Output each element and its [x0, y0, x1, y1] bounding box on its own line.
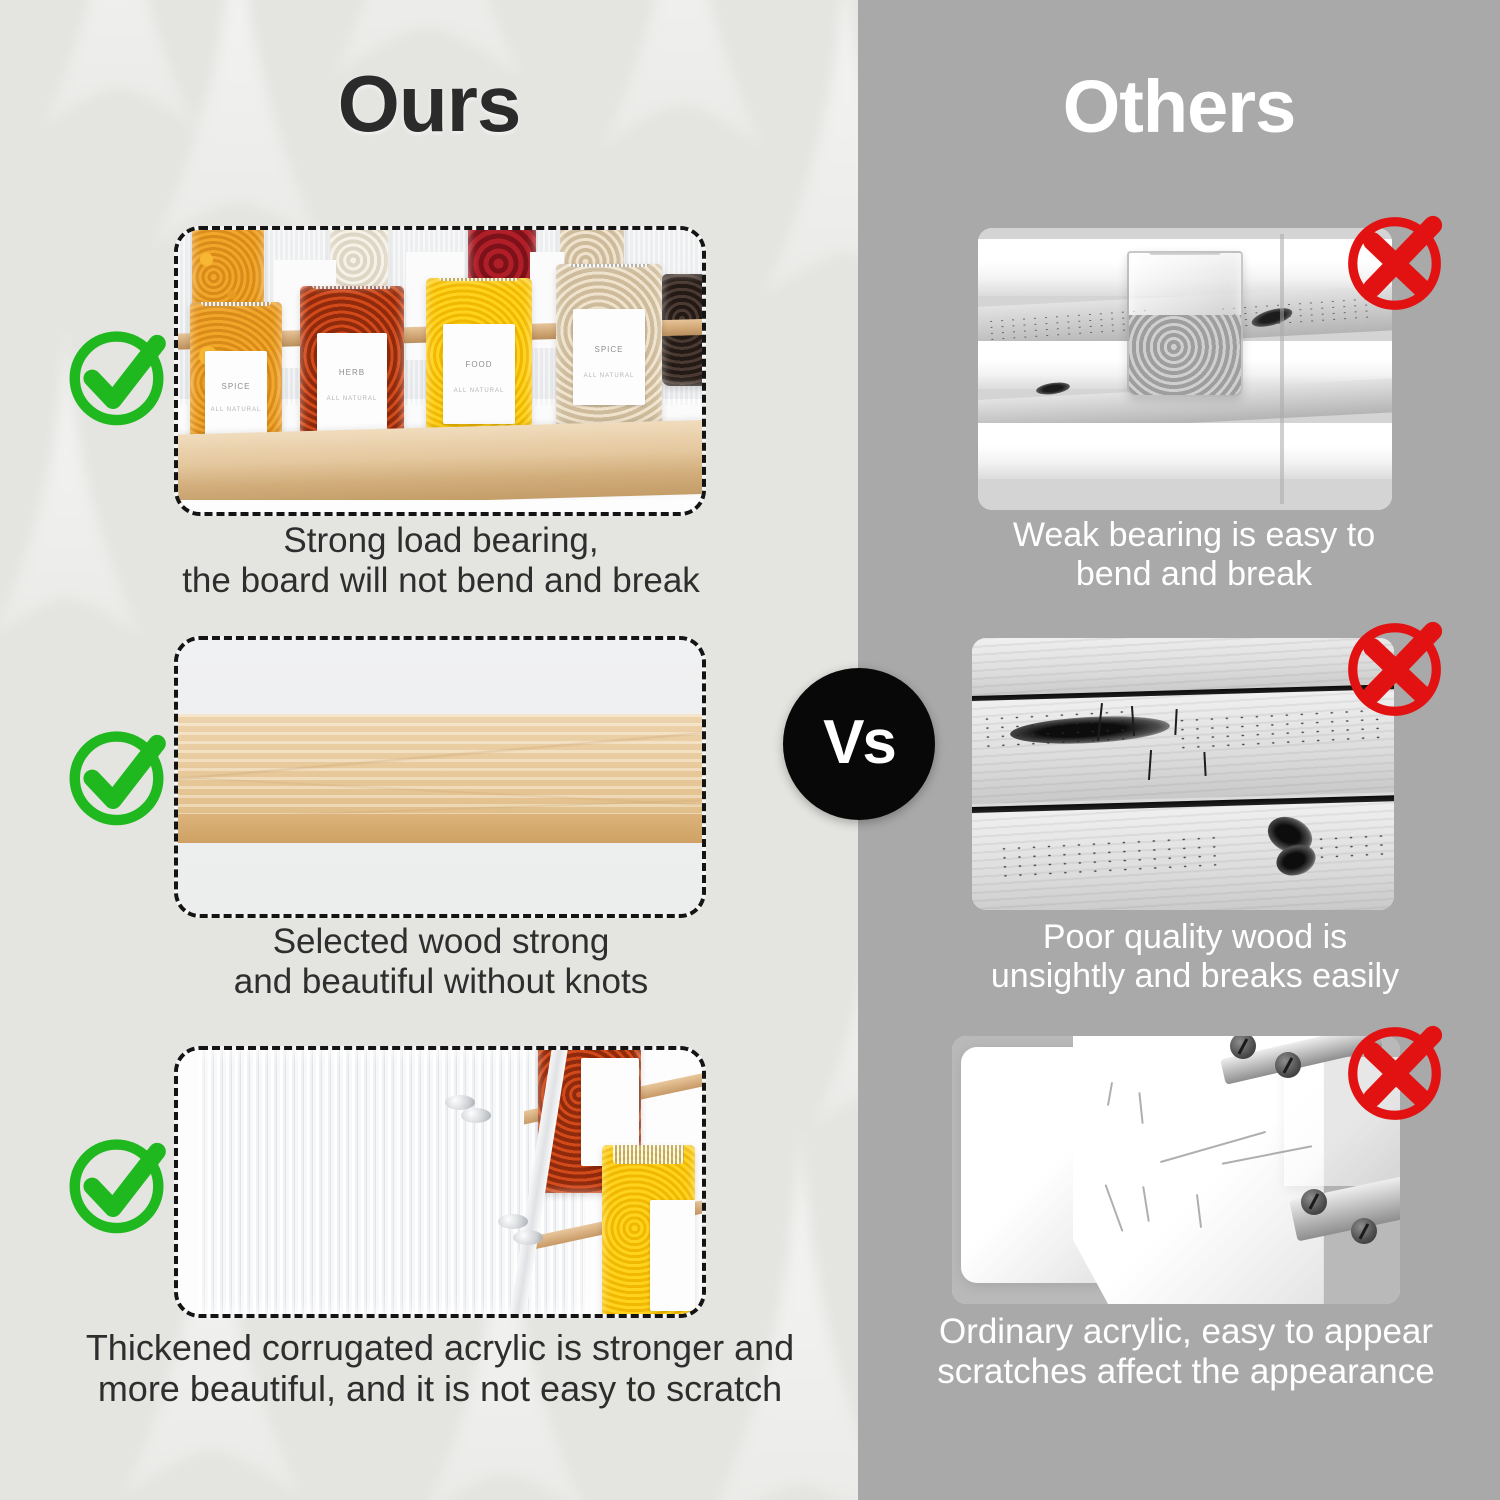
caption-line: unsightly and breaks easily: [952, 957, 1438, 996]
check-circle-icon: [62, 318, 178, 434]
check-circle-icon: [62, 1126, 178, 1242]
others-caption-acrylic-quality: Ordinary acrylic, easy to appear scratch…: [912, 1312, 1460, 1392]
jar-label-name: HERB: [339, 368, 365, 377]
ours-heading: Ours: [0, 58, 858, 150]
caption-line: and beautiful without knots: [176, 962, 706, 1002]
check-circle-icon: [62, 718, 178, 834]
caption-line: Selected wood strong: [176, 922, 706, 962]
jar-label-name: FOOD: [465, 360, 492, 369]
caption-line: Strong load bearing,: [116, 521, 766, 561]
others-image-load-bearing: [978, 228, 1392, 510]
ours-caption-load-bearing: Strong load bearing, the board will not …: [116, 521, 766, 600]
cross-circle-icon: [1340, 608, 1456, 724]
jar-label-name: SPICE: [221, 382, 250, 391]
others-image-acrylic-quality: [952, 1036, 1400, 1304]
cross-circle-icon: [1340, 1012, 1456, 1128]
infographic-canvas: Ours Others Vs SPICE ALL: [0, 0, 1500, 1500]
ours-image-card-load-bearing: SPICE ALL NATURAL HERB ALL NATURAL FOOD …: [174, 226, 706, 516]
others-image-wood-quality: [972, 638, 1394, 910]
jar-label-subtitle: ALL NATURAL: [454, 388, 505, 394]
cross-circle-icon: [1340, 202, 1456, 318]
ours-image-card-acrylic-quality: [174, 1046, 706, 1318]
others-caption-wood-quality: Poor quality wood is unsightly and break…: [952, 918, 1438, 996]
jar-label-name: SPICE: [594, 345, 623, 354]
ours-caption-acrylic-quality: Thickened corrugated acrylic is stronger…: [62, 1328, 818, 1409]
caption-line: Ordinary acrylic, easy to appear: [912, 1312, 1460, 1352]
versus-badge-label: Vs: [823, 712, 895, 774]
caption-line: more beautiful, and it is not easy to sc…: [62, 1369, 818, 1410]
versus-badge: Vs: [783, 668, 935, 820]
caption-line: Thickened corrugated acrylic is stronger…: [62, 1328, 818, 1369]
caption-line: bend and break: [958, 555, 1430, 594]
ours-caption-wood-quality: Selected wood strong and beautiful witho…: [176, 922, 706, 1001]
caption-line: scratches affect the appearance: [912, 1352, 1460, 1392]
jar-label-subtitle: ALL NATURAL: [211, 407, 262, 413]
jar-label-subtitle: ALL NATURAL: [327, 396, 378, 402]
caption-line: Weak bearing is easy to: [958, 516, 1430, 555]
jar-label-subtitle: ALL NATURAL: [584, 373, 635, 379]
others-caption-load-bearing: Weak bearing is easy to bend and break: [958, 516, 1430, 594]
caption-line: Poor quality wood is: [952, 918, 1438, 957]
others-heading: Others: [858, 64, 1500, 149]
ours-image-card-wood-quality: [174, 636, 706, 918]
caption-line: the board will not bend and break: [116, 561, 766, 601]
